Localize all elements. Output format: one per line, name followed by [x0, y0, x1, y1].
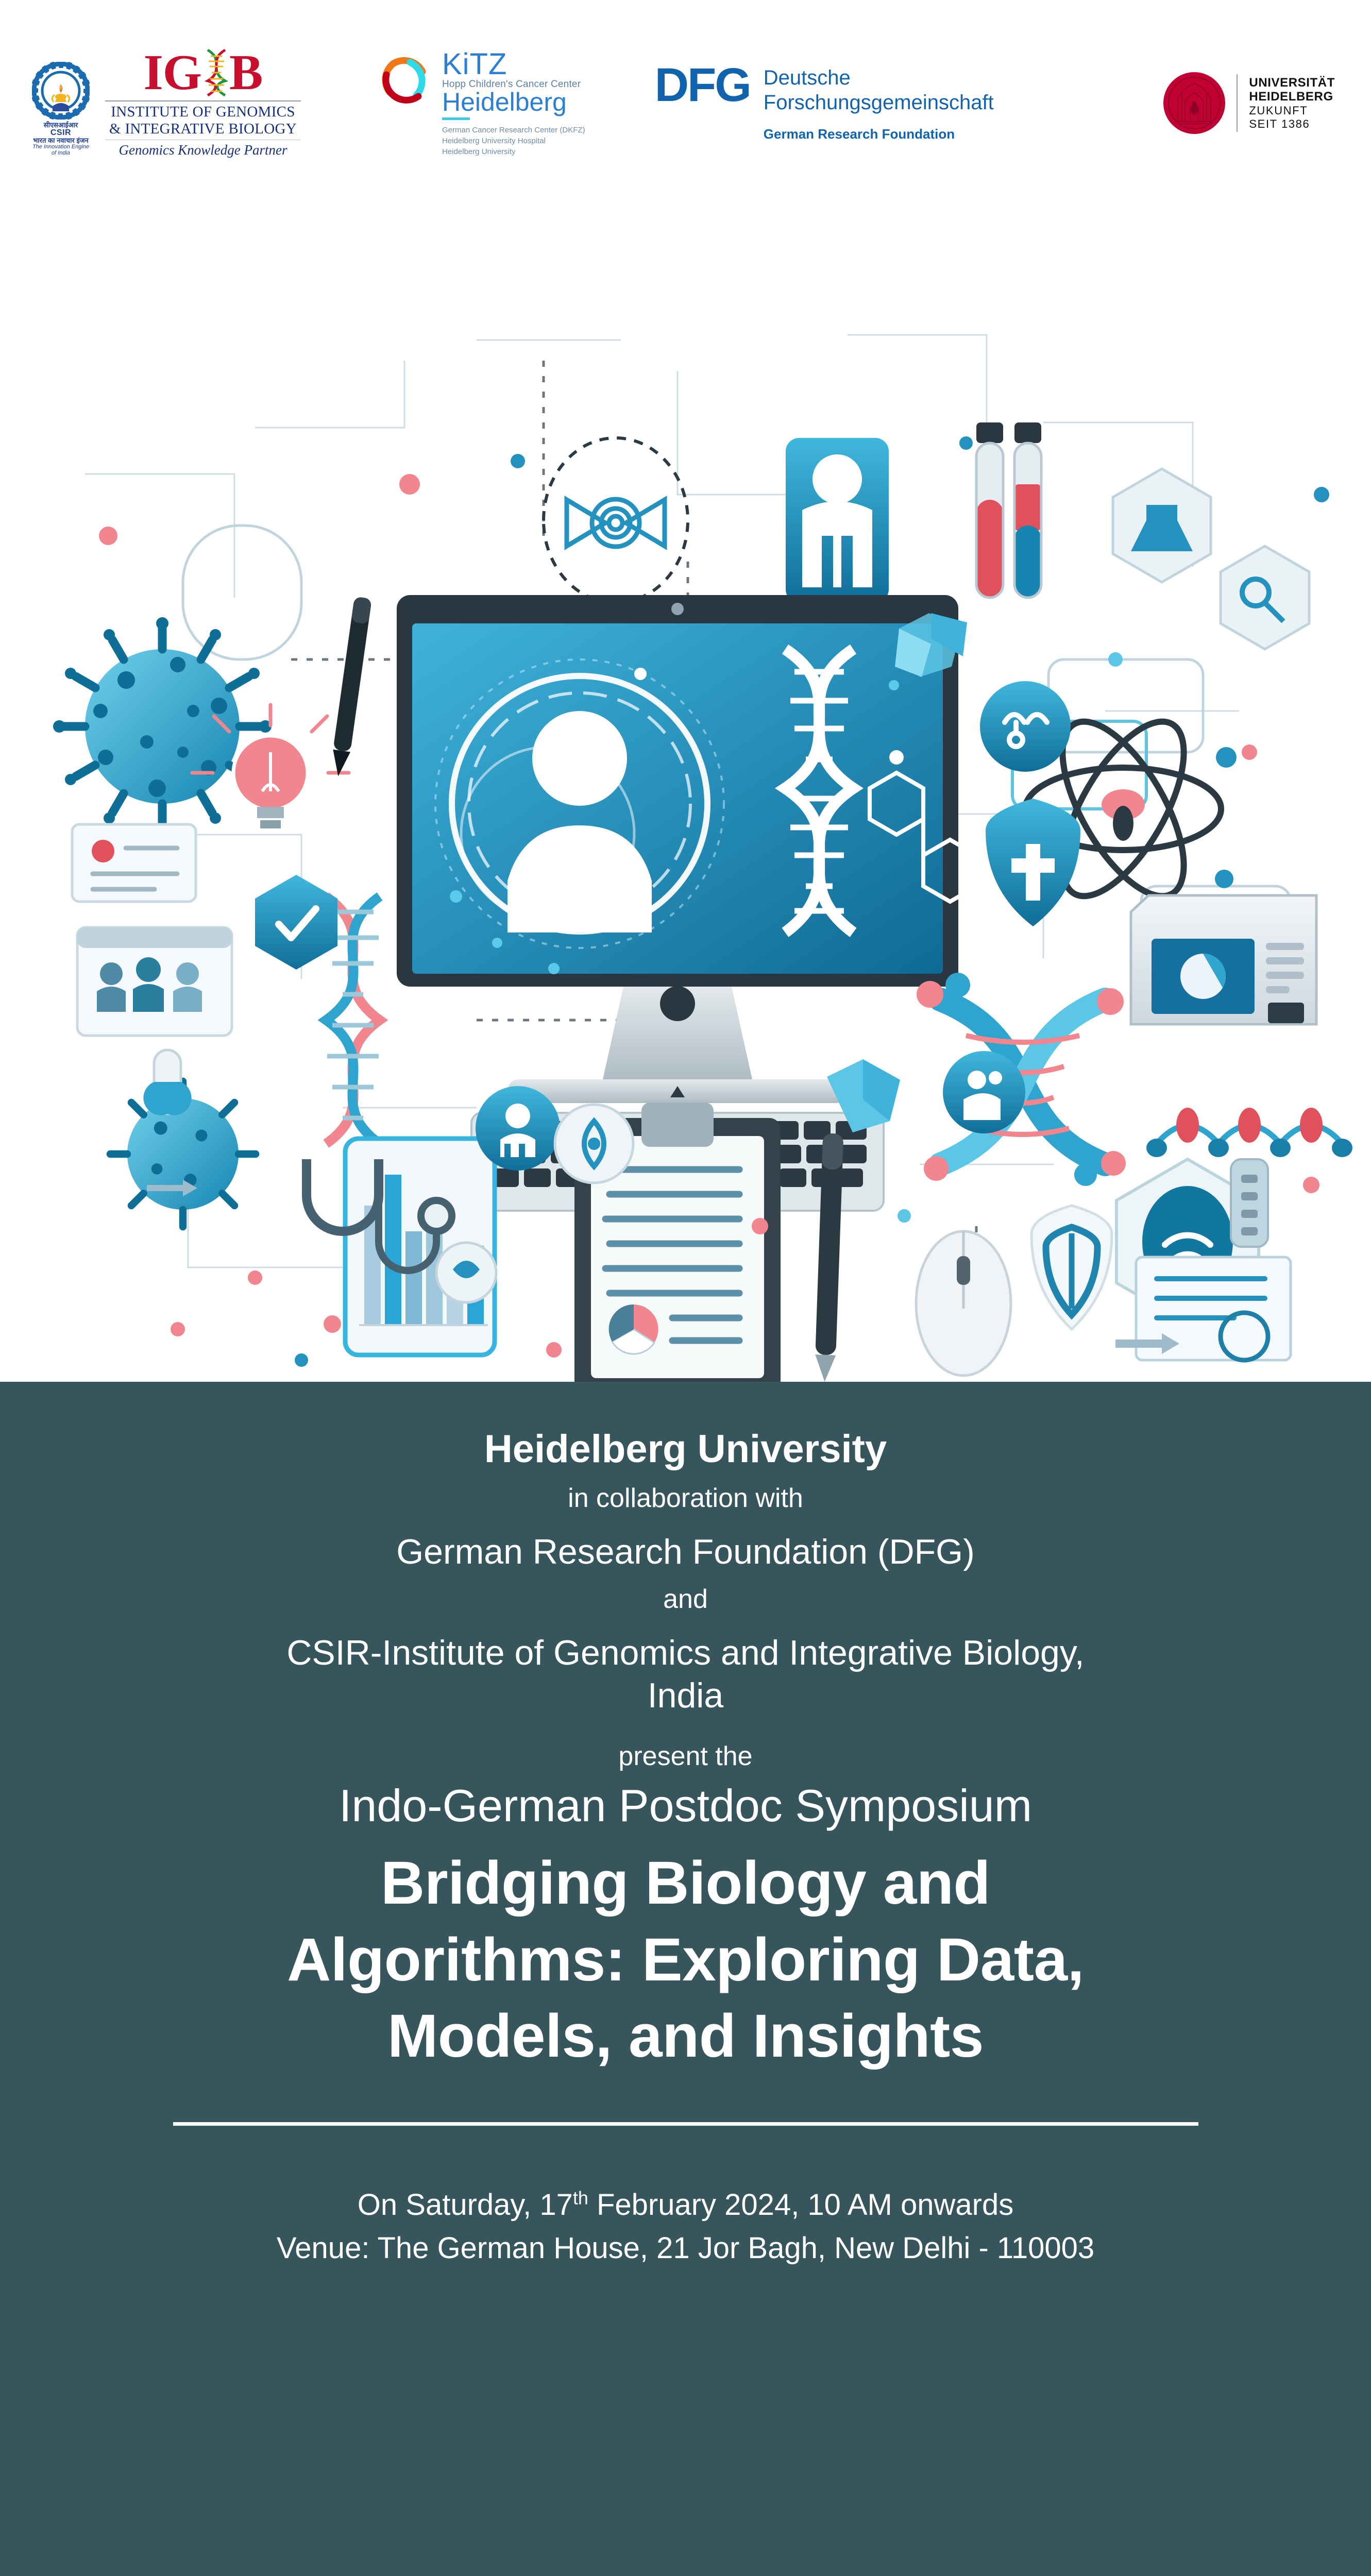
dfg-wordmark: DFG: [655, 64, 750, 107]
kitz-title: KiTZ: [442, 50, 585, 78]
event-venue: Venue: The German House, 21 Jor Bagh, Ne…: [0, 2227, 1371, 2270]
event-date-ordinal: th: [573, 2188, 588, 2209]
kitz-city: Heidelberg: [442, 89, 585, 115]
event-title-line-3: Models, and Insights: [0, 1998, 1371, 2075]
hero-collage-graphic: [13, 206, 1358, 1382]
csir-tagline: The Innovation Engine of India: [30, 144, 92, 156]
hero-canvas: [13, 206, 1358, 1382]
event-info-panel: Heidelberg University in collaboration w…: [0, 1382, 1371, 2576]
university-line-2: HEIDELBERG: [1249, 90, 1335, 104]
csir-caption: सीएसआईआर CSIR भारत का नवाचार इंजन The In…: [30, 122, 92, 156]
event-details: On Saturday, 17th February 2024, 10 AM o…: [0, 2183, 1371, 2270]
logo-row: सीएसआईआर CSIR भारत का नवाचार इंजन The In…: [0, 48, 1371, 158]
section-divider: [173, 2122, 1198, 2126]
event-title-line-1: Bridging Biology and: [0, 1845, 1371, 1922]
collaboration-label: in collaboration with: [0, 1482, 1371, 1515]
dfg-text: Deutsche Forschungsgemeinschaft German R…: [764, 64, 994, 142]
university-line-1: UNIVERSITÄT: [1249, 76, 1335, 90]
kitz-logo: KiTZ Hopp Children's Cancer Center Heide…: [378, 49, 585, 158]
csir-gear-icon: [32, 62, 90, 120]
present-label: present the: [0, 1740, 1371, 1773]
partner-dfg: German Research Foundation (DFG): [0, 1531, 1371, 1573]
kitz-footer-3: Heidelberg University: [442, 146, 585, 157]
igib-dna-icon: [201, 48, 229, 97]
igib-divider-top: [105, 100, 301, 101]
event-date: On Saturday, 17th February 2024, 10 AM o…: [0, 2183, 1371, 2227]
igib-wordmark: IG B: [105, 48, 301, 158]
dfg-line-1: Deutsche: [764, 66, 994, 90]
event-title: Bridging Biology and Algorithms: Explori…: [0, 1845, 1371, 2075]
and-label: and: [0, 1583, 1371, 1616]
kitz-footer-2: Heidelberg University Hospital: [442, 135, 585, 146]
partner-igib: CSIR-Institute of Genomics and Integrati…: [0, 1632, 1371, 1674]
igib-tagline: Genomics Knowledge Partner: [105, 142, 301, 158]
csir-seal: सीएसआईआर CSIR भारत का नवाचार इंजन The In…: [30, 62, 92, 144]
hero-illustration: [13, 206, 1358, 1382]
organizer-name: Heidelberg University: [0, 1426, 1371, 1472]
event-date-suffix: February 2024, 10 AM onwards: [588, 2188, 1013, 2222]
igib-mark: IG B: [105, 48, 301, 97]
poster-header: सीएसआईआर CSIR भारत का नवाचार इंजन The In…: [0, 0, 1371, 206]
university-line-3: ZUKUNFT: [1249, 104, 1335, 117]
university-text: UNIVERSITÄT HEIDELBERG ZUKUNFT SEIT 1386: [1249, 76, 1335, 131]
csir-abbr: CSIR: [30, 129, 92, 138]
csir-hindi-2: भारत का नवाचार इंजन: [30, 137, 92, 144]
partner-igib-country: India: [0, 1674, 1371, 1717]
igib-mark-left: IG: [144, 48, 201, 97]
csir-igib-logo: सीएसआईआर CSIR भारत का नवाचार इंजन The In…: [30, 48, 301, 158]
kitz-footer-1: German Cancer Research Center (DKFZ): [442, 125, 585, 135]
university-line-4: SEIT 1386: [1249, 117, 1335, 131]
dfg-line-2: Forschungsgemeinschaft: [764, 91, 994, 115]
event-title-line-2: Algorithms: Exploring Data,: [0, 1922, 1371, 1998]
event-kind: Indo-German Postdoc Symposium: [0, 1778, 1371, 1833]
dfg-logo: DFG Deutsche Forschungsgemeinschaft Germ…: [655, 64, 994, 142]
heidelberg-university-logo: UNIVERSITÄT HEIDELBERG ZUKUNFT SEIT 1386: [1163, 72, 1335, 134]
dfg-line-3: German Research Foundation: [764, 126, 994, 142]
kitz-accent-bar: [442, 117, 470, 120]
igib-subtitle-1: INSTITUTE OF GENOMICS: [105, 104, 301, 120]
event-date-prefix: On Saturday, 17: [358, 2188, 573, 2222]
igib-divider-bottom: [105, 140, 301, 140]
csir-hindi-1: सीएसआईआर: [30, 122, 92, 129]
igib-subtitle-2: & INTEGRATIVE BIOLOGY: [105, 121, 301, 137]
university-logo-divider: [1237, 74, 1238, 132]
kitz-circle-icon: [378, 52, 435, 109]
igib-mark-right: B: [229, 48, 262, 97]
university-seal-icon: [1163, 72, 1225, 134]
kitz-text: KiTZ Hopp Children's Cancer Center Heide…: [442, 49, 585, 158]
